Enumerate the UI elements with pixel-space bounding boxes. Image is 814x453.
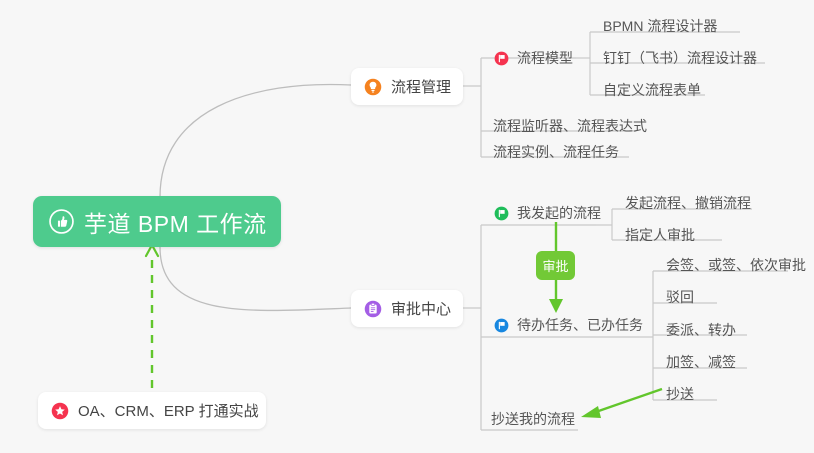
branch-label-liucheng-guanli: 流程管理 <box>391 76 451 97</box>
leaf-wo-faqi-de-liucheng[interactable]: 我发起的流程 <box>490 199 609 227</box>
root-label: 芋道 BPM 工作流 <box>84 205 267 239</box>
thumbs-up-icon <box>49 209 74 234</box>
annotation-badge-shenpi: 审批 <box>536 251 575 280</box>
leaf-bpmn-sheji[interactable]: BPMN 流程设计器 <box>599 12 725 40</box>
leaf-label-faqi-chexiao: 发起流程、撤销流程 <box>625 196 751 210</box>
annotation-badge-shenpi-label: 审批 <box>542 256 568 275</box>
flag-icon <box>494 51 509 66</box>
leaf-bohui[interactable]: 驳回 <box>662 283 702 311</box>
leaf-label-shili-renwu: 流程实例、流程任务 <box>493 145 619 159</box>
leaf-label-liucheng-moxing: 流程模型 <box>517 51 573 65</box>
flag-icon <box>494 206 509 221</box>
leaf-label-jiantingqi-biaodashi: 流程监听器、流程表达式 <box>493 119 647 133</box>
link-root-to-shenpi-zhongxin <box>160 247 351 310</box>
leaf-chaosong-wo-de-liucheng[interactable]: 抄送我的流程 <box>487 405 583 433</box>
leaf-faqi-chexiao[interactable]: 发起流程、撤销流程 <box>621 189 759 217</box>
branch-node-shenpi-zhongxin[interactable]: 审批中心 <box>351 290 463 327</box>
link-root-to-liucheng-guanli <box>160 84 351 197</box>
leaf-daiban-yiban-renwu[interactable]: 待办任务、已办任务 <box>490 311 651 339</box>
leaf-huiqian-huoqian-yici[interactable]: 会签、或签、依次审批 <box>662 251 814 279</box>
leaf-zidingyi-biaodan[interactable]: 自定义流程表单 <box>599 76 709 104</box>
leaf-label-zhidingren-shenpi: 指定人审批 <box>625 228 695 242</box>
leaf-jiantingqi-biaodashi[interactable]: 流程监听器、流程表达式 <box>489 112 655 140</box>
leaf-label-zidingyi-biaodan: 自定义流程表单 <box>603 83 701 97</box>
leaf-dingding-feishu-sheji[interactable]: 钉钉（飞书）流程设计器 <box>599 44 765 72</box>
arrow-chaosong <box>590 389 662 414</box>
lightbulb-icon <box>364 78 382 96</box>
flag-icon <box>494 318 509 333</box>
mindmap-canvas: 芋道 BPM 工作流 流程管理 审批中心 流程模型 <box>0 0 814 453</box>
leaf-label-bohui: 驳回 <box>666 290 694 304</box>
leaf-chaosong[interactable]: 抄送 <box>662 380 702 408</box>
leaf-label-dingding-feishu-sheji: 钉钉（飞书）流程设计器 <box>603 51 757 65</box>
leaf-label-huiqian-huoqian-yici: 会签、或签、依次审批 <box>666 258 806 272</box>
note-label-oa-crm-erp: OA、CRM、ERP 打通实战 <box>78 400 259 421</box>
leaf-liucheng-moxing[interactable]: 流程模型 <box>490 44 581 72</box>
leaf-jiaqian-jianqian[interactable]: 加签、减签 <box>662 348 744 376</box>
clipboard-icon <box>364 300 382 318</box>
star-icon <box>51 402 69 420</box>
leaf-label-weipai-zhuanban: 委派、转办 <box>666 323 736 337</box>
root-node[interactable]: 芋道 BPM 工作流 <box>33 196 281 247</box>
leaf-zhidingren-shenpi[interactable]: 指定人审批 <box>621 221 703 249</box>
leaf-label-chaosong-wo-de-liucheng: 抄送我的流程 <box>491 412 575 426</box>
branch-node-liucheng-guanli[interactable]: 流程管理 <box>351 68 463 105</box>
leaf-label-wo-faqi-de-liucheng: 我发起的流程 <box>517 206 601 220</box>
leaf-label-daiban-yiban-renwu: 待办任务、已办任务 <box>517 318 643 332</box>
arrow-chaosong-head <box>581 406 601 418</box>
leaf-label-bpmn-sheji: BPMN 流程设计器 <box>603 19 717 33</box>
leaf-label-chaosong: 抄送 <box>666 387 694 401</box>
branch-label-shenpi-zhongxin: 审批中心 <box>391 298 451 319</box>
leaf-shili-renwu[interactable]: 流程实例、流程任务 <box>489 138 627 166</box>
leaf-weipai-zhuanban[interactable]: 委派、转办 <box>662 316 744 344</box>
note-node-oa-crm-erp[interactable]: OA、CRM、ERP 打通实战 <box>38 392 266 429</box>
leaf-label-jiaqian-jianqian: 加签、减签 <box>666 355 736 369</box>
